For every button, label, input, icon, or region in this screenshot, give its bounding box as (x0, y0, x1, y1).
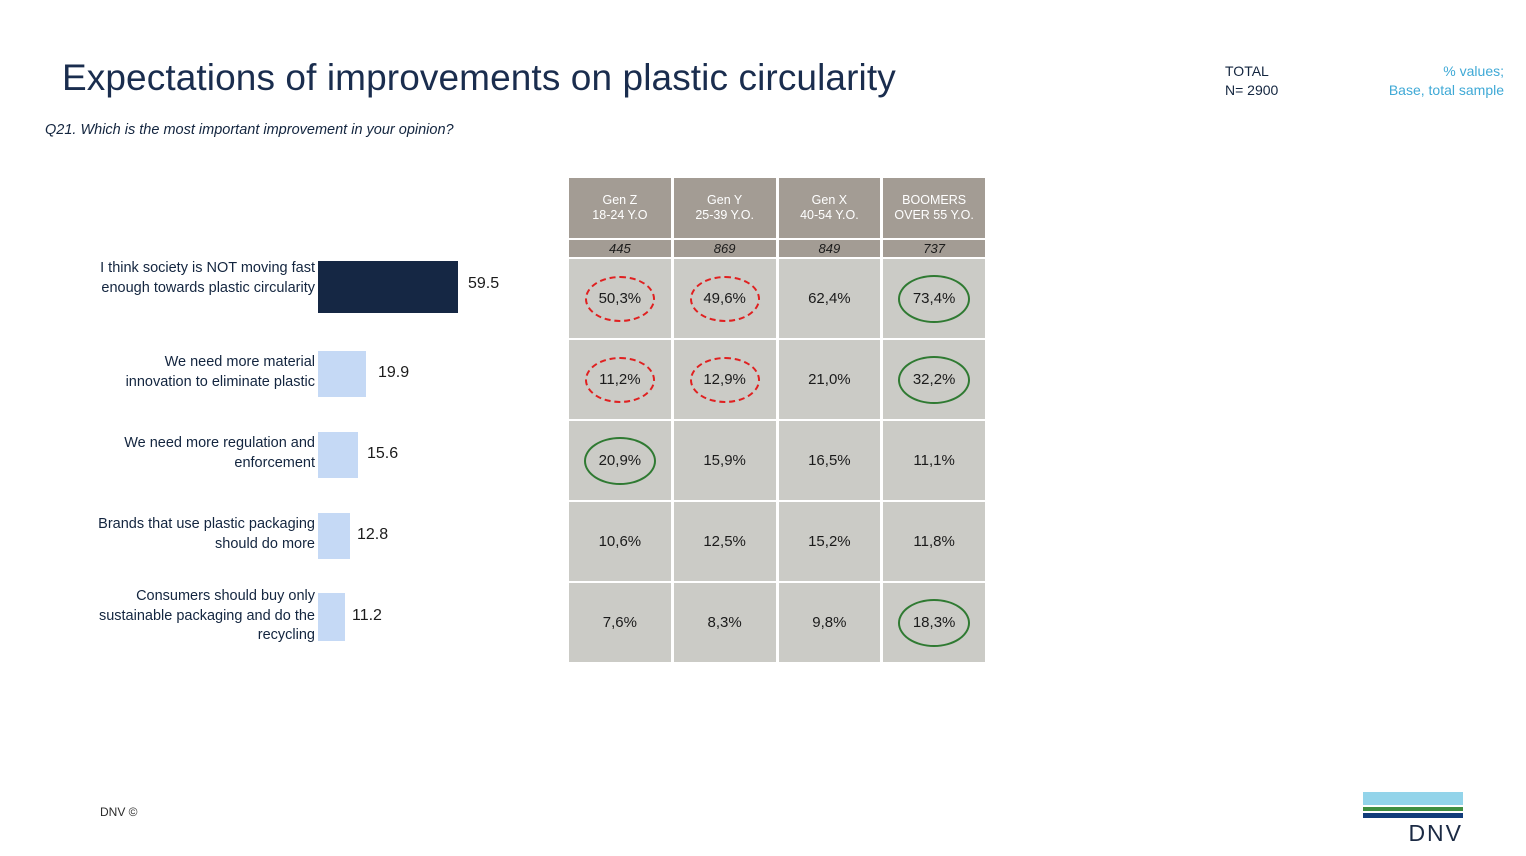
table-row: 50,3%49,6%62,4%73,4% (569, 259, 985, 338)
column-base-size: 445 (569, 240, 671, 257)
slide-canvas: Expectations of improvements on plastic … (0, 0, 1526, 856)
table-row: 20,9%15,9%16,5%11,1% (569, 421, 985, 500)
total-n-value: N= 2900 (1225, 81, 1278, 100)
table-cell: 9,8% (779, 583, 881, 662)
cell-percentage-value: 10,6% (599, 533, 642, 550)
cell-percentage-value: 11,1% (913, 452, 954, 469)
table-cell: 18,3% (883, 583, 985, 662)
column-header-text: Gen X40-54 Y.O. (800, 193, 859, 223)
bar-value-label: 12.8 (357, 526, 388, 544)
values-base-note: % values; Base, total sample (1318, 62, 1504, 100)
base-note: Base, total sample (1318, 81, 1504, 100)
generation-breakdown-table: Gen Z18-24 Y.OGen Y25-39 Y.O.Gen X40-54 … (569, 178, 985, 662)
table-cell: 11,2% (569, 340, 671, 419)
cell-percentage-value: 49,6% (703, 290, 746, 307)
bar-label: I think society is NOT moving fast enoug… (97, 259, 315, 298)
table-cell: 62,4% (779, 259, 881, 338)
cell-percentage-value: 50,3% (599, 290, 642, 307)
table-row: 11,2%12,9%21,0%32,2% (569, 340, 985, 419)
total-base-block: TOTAL N= 2900 (1225, 62, 1278, 100)
column-subtitle: 40-54 Y.O. (800, 208, 859, 223)
table-column-header: Gen Z18-24 Y.O (569, 178, 671, 238)
column-base-size: 737 (883, 240, 985, 257)
column-subtitle: 18-24 Y.O (592, 208, 647, 223)
bar-rect (318, 261, 458, 313)
table-cell: 21,0% (779, 340, 881, 419)
cell-percentage-value: 21,0% (808, 371, 851, 388)
table-cell: 7,6% (569, 583, 671, 662)
cell-percentage-value: 11,2% (599, 371, 640, 388)
column-base-size: 869 (674, 240, 776, 257)
logo-bar-navy (1363, 813, 1463, 818)
cell-percentage-value: 32,2% (913, 371, 956, 388)
column-subtitle: OVER 55 Y.O. (894, 208, 973, 223)
dnv-wordmark: DNV (1363, 821, 1463, 845)
cell-percentage-value: 20,9% (599, 452, 642, 469)
logo-bar-green (1363, 807, 1463, 811)
bar-label: Brands that use plastic packaging should… (97, 515, 315, 554)
bar-label: We need more regulation and enforcement (97, 434, 315, 473)
cell-percentage-value: 16,5% (808, 452, 851, 469)
cell-percentage-value: 18,3% (913, 614, 956, 631)
cell-percentage-value: 9,8% (812, 614, 846, 631)
table-cell: 16,5% (779, 421, 881, 500)
cell-percentage-value: 11,8% (913, 533, 954, 550)
page-title: Expectations of improvements on plastic … (62, 57, 896, 99)
bar-value-label: 19.9 (378, 364, 409, 382)
column-header-text: Gen Z18-24 Y.O (592, 193, 647, 223)
cell-percentage-value: 7,6% (603, 614, 637, 631)
cell-percentage-value: 8,3% (708, 614, 742, 631)
table-cell: 12,9% (674, 340, 776, 419)
column-title: Gen Z (592, 193, 647, 208)
total-label: TOTAL (1225, 62, 1278, 81)
column-header-text: BOOMERSOVER 55 Y.O. (894, 193, 973, 223)
bar-chart: I think society is NOT moving fast enoug… (60, 255, 520, 660)
bar-rect (318, 593, 345, 641)
table-cell: 73,4% (883, 259, 985, 338)
bar-label: We need more material innovation to elim… (97, 353, 315, 392)
column-base-size: 849 (779, 240, 881, 257)
dnv-logo: DNV (1363, 792, 1463, 845)
table-cell: 10,6% (569, 502, 671, 581)
table-cell: 15,9% (674, 421, 776, 500)
table-cell: 12,5% (674, 502, 776, 581)
table-cell: 32,2% (883, 340, 985, 419)
values-note: % values; (1318, 62, 1504, 81)
bar-value-label: 15.6 (367, 445, 398, 463)
table-cell: 20,9% (569, 421, 671, 500)
table-column-header: Gen Y25-39 Y.O. (674, 178, 776, 238)
bar-rect (318, 351, 366, 397)
table-column-header: Gen X40-54 Y.O. (779, 178, 881, 238)
bar-rect (318, 432, 358, 478)
cell-percentage-value: 15,2% (808, 533, 851, 550)
question-subtitle: Q21. Which is the most important improve… (45, 122, 454, 138)
bar-value-label: 59.5 (468, 275, 499, 293)
column-title: Gen X (800, 193, 859, 208)
cell-percentage-value: 12,9% (703, 371, 746, 388)
column-header-text: Gen Y25-39 Y.O. (695, 193, 754, 223)
bar-value-label: 11.2 (352, 607, 382, 625)
bar-rect (318, 513, 350, 559)
table-base-row: 445869849737 (569, 240, 985, 257)
table-header-row: Gen Z18-24 Y.OGen Y25-39 Y.O.Gen X40-54 … (569, 178, 985, 238)
logo-bar-light-blue (1363, 792, 1463, 805)
table-cell: 11,1% (883, 421, 985, 500)
table-row: 7,6%8,3%9,8%18,3% (569, 583, 985, 662)
table-column-header: BOOMERSOVER 55 Y.O. (883, 178, 985, 238)
table-cell: 50,3% (569, 259, 671, 338)
table-cell: 8,3% (674, 583, 776, 662)
footer-copyright: DNV © (100, 805, 138, 819)
bar-label: Consumers should buy only sustainable pa… (97, 587, 315, 646)
table-cell: 49,6% (674, 259, 776, 338)
table-cell: 15,2% (779, 502, 881, 581)
cell-percentage-value: 15,9% (703, 452, 746, 469)
column-subtitle: 25-39 Y.O. (695, 208, 754, 223)
cell-percentage-value: 73,4% (913, 290, 956, 307)
column-title: BOOMERS (894, 193, 973, 208)
table-cell: 11,8% (883, 502, 985, 581)
table-row: 10,6%12,5%15,2%11,8% (569, 502, 985, 581)
cell-percentage-value: 12,5% (703, 533, 746, 550)
cell-percentage-value: 62,4% (808, 290, 851, 307)
column-title: Gen Y (695, 193, 754, 208)
